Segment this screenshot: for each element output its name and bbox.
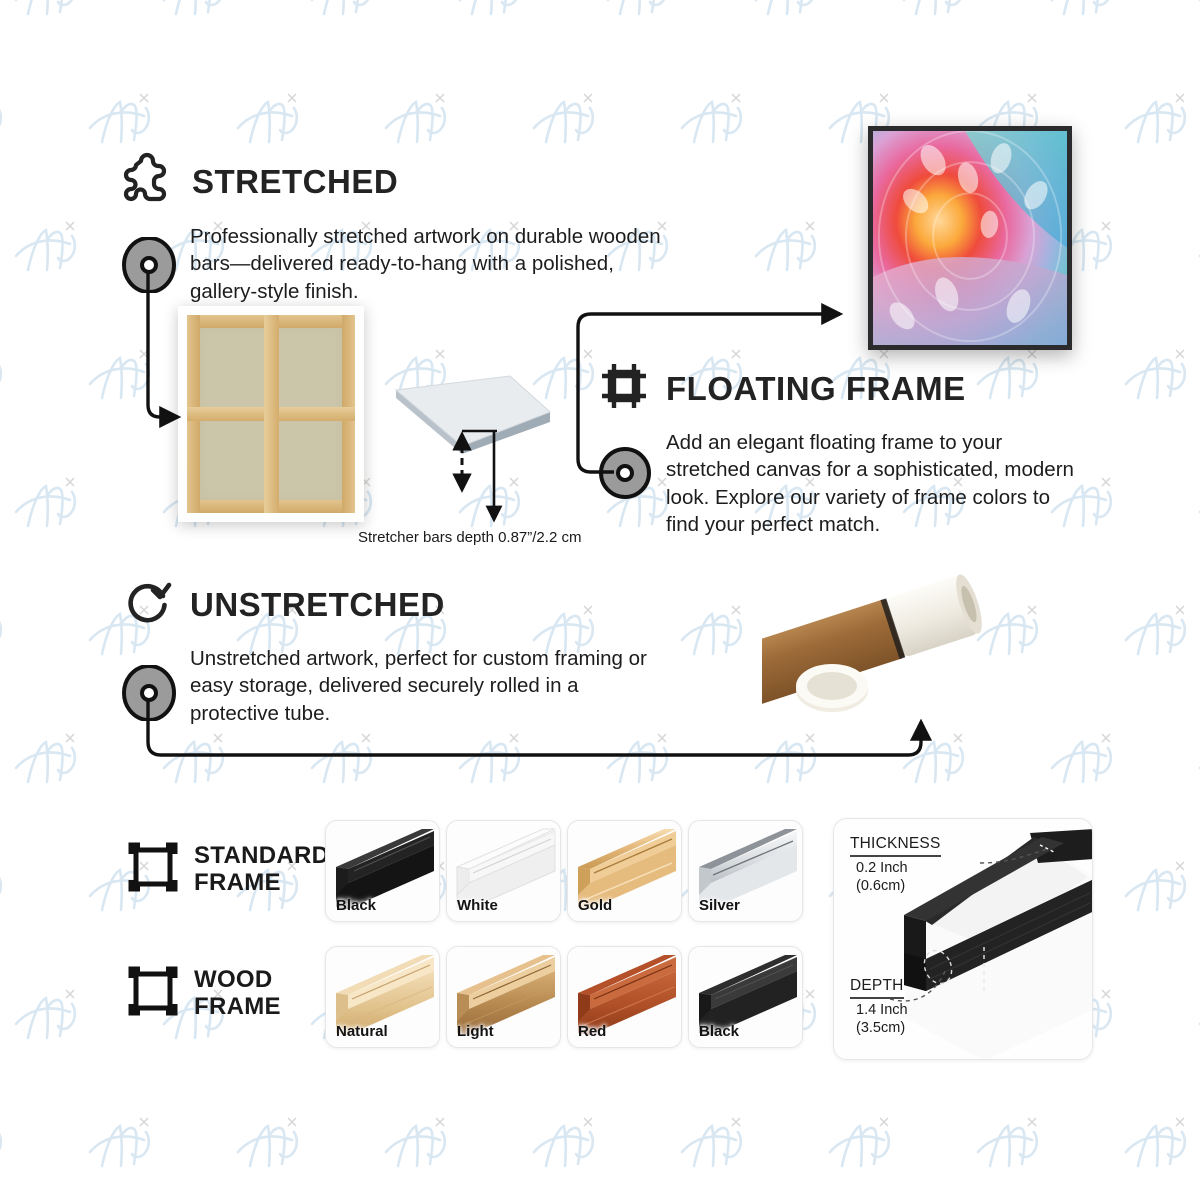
swatch-label: White bbox=[457, 897, 498, 914]
swatch-standard-silver[interactable]: Silver bbox=[688, 820, 803, 922]
feature-title: STRETCHED bbox=[192, 165, 398, 198]
thickness-spec: THICKNESS 0.2 Inch (0.6cm) bbox=[850, 835, 941, 895]
depth-spec: DEPTH 1.4 Inch (3.5cm) bbox=[850, 977, 908, 1037]
feature-description: Professionally stretched artwork on dura… bbox=[190, 223, 668, 305]
stretched-canvas-back-photo bbox=[178, 306, 364, 522]
swatch-standard-white[interactable]: White bbox=[446, 820, 561, 922]
row-label-text: WOOD FRAME bbox=[194, 967, 281, 1021]
feature-unstretched: UNSTRETCHED Unstretched artwork, perfect… bbox=[122, 576, 682, 727]
feature-title: FLOATING FRAME bbox=[666, 372, 966, 405]
swatch-label: Red bbox=[578, 1023, 606, 1040]
feature-description: Add an elegant floating frame to your st… bbox=[666, 429, 1078, 538]
depth-label: DEPTH bbox=[850, 977, 904, 999]
thickness-value-cm: (0.6cm) bbox=[850, 878, 941, 896]
feature-floating-frame: FLOATING FRAME Add an elegant floating f… bbox=[598, 360, 1088, 538]
square-frame-icon bbox=[128, 966, 178, 1021]
connector-marker-floating-frame bbox=[598, 446, 652, 505]
frame-corners-icon bbox=[598, 360, 650, 417]
rotate-check-icon bbox=[122, 576, 174, 633]
canvas-corner-depth-photo bbox=[392, 362, 554, 454]
swatch-standard-black[interactable]: Black bbox=[325, 820, 440, 922]
thickness-value-inch: 0.2 Inch bbox=[850, 860, 941, 878]
depth-value-inch: 1.4 Inch bbox=[850, 1002, 908, 1020]
shipping-tube-photo bbox=[762, 562, 1002, 732]
floating-framed-artwork-photo bbox=[868, 126, 1072, 350]
swatch-wood-natural[interactable]: Natural bbox=[325, 946, 440, 1048]
swatch-label: Natural bbox=[336, 1023, 388, 1040]
feature-stretched: STRETCHED Professionally stretched artwo… bbox=[122, 152, 682, 305]
swatch-label: Gold bbox=[578, 897, 612, 914]
feature-description: Unstretched artwork, perfect for custom … bbox=[190, 645, 668, 727]
row-label-wood-frame: WOOD FRAME bbox=[128, 966, 281, 1021]
stretcher-depth-caption: Stretcher bars depth 0.87”/2.2 cm bbox=[358, 529, 581, 546]
feature-title: UNSTRETCHED bbox=[190, 588, 445, 621]
swatch-label: Black bbox=[336, 897, 376, 914]
swatch-label: Silver bbox=[699, 897, 740, 914]
connector-marker-stretched bbox=[121, 237, 177, 298]
row-label-text: STANDARD FRAME bbox=[194, 843, 329, 897]
thickness-label: THICKNESS bbox=[850, 835, 941, 857]
swatch-wood-red[interactable]: Red bbox=[567, 946, 682, 1048]
row-label-standard-frame: STANDARD FRAME bbox=[128, 842, 329, 897]
frame-dimensions-card: THICKNESS 0.2 Inch (0.6cm) DEPTH 1.4 Inc… bbox=[833, 818, 1093, 1060]
depth-value-cm: (3.5cm) bbox=[850, 1020, 908, 1038]
puzzle-piece-icon bbox=[122, 152, 176, 211]
swatch-wood-light[interactable]: Light bbox=[446, 946, 561, 1048]
swatch-label: Light bbox=[457, 1023, 494, 1040]
swatch-label: Black bbox=[699, 1023, 739, 1040]
swatch-wood-black[interactable]: Black bbox=[688, 946, 803, 1048]
square-frame-icon bbox=[128, 842, 178, 897]
swatch-standard-gold[interactable]: Gold bbox=[567, 820, 682, 922]
connector-marker-unstretched bbox=[121, 665, 177, 726]
